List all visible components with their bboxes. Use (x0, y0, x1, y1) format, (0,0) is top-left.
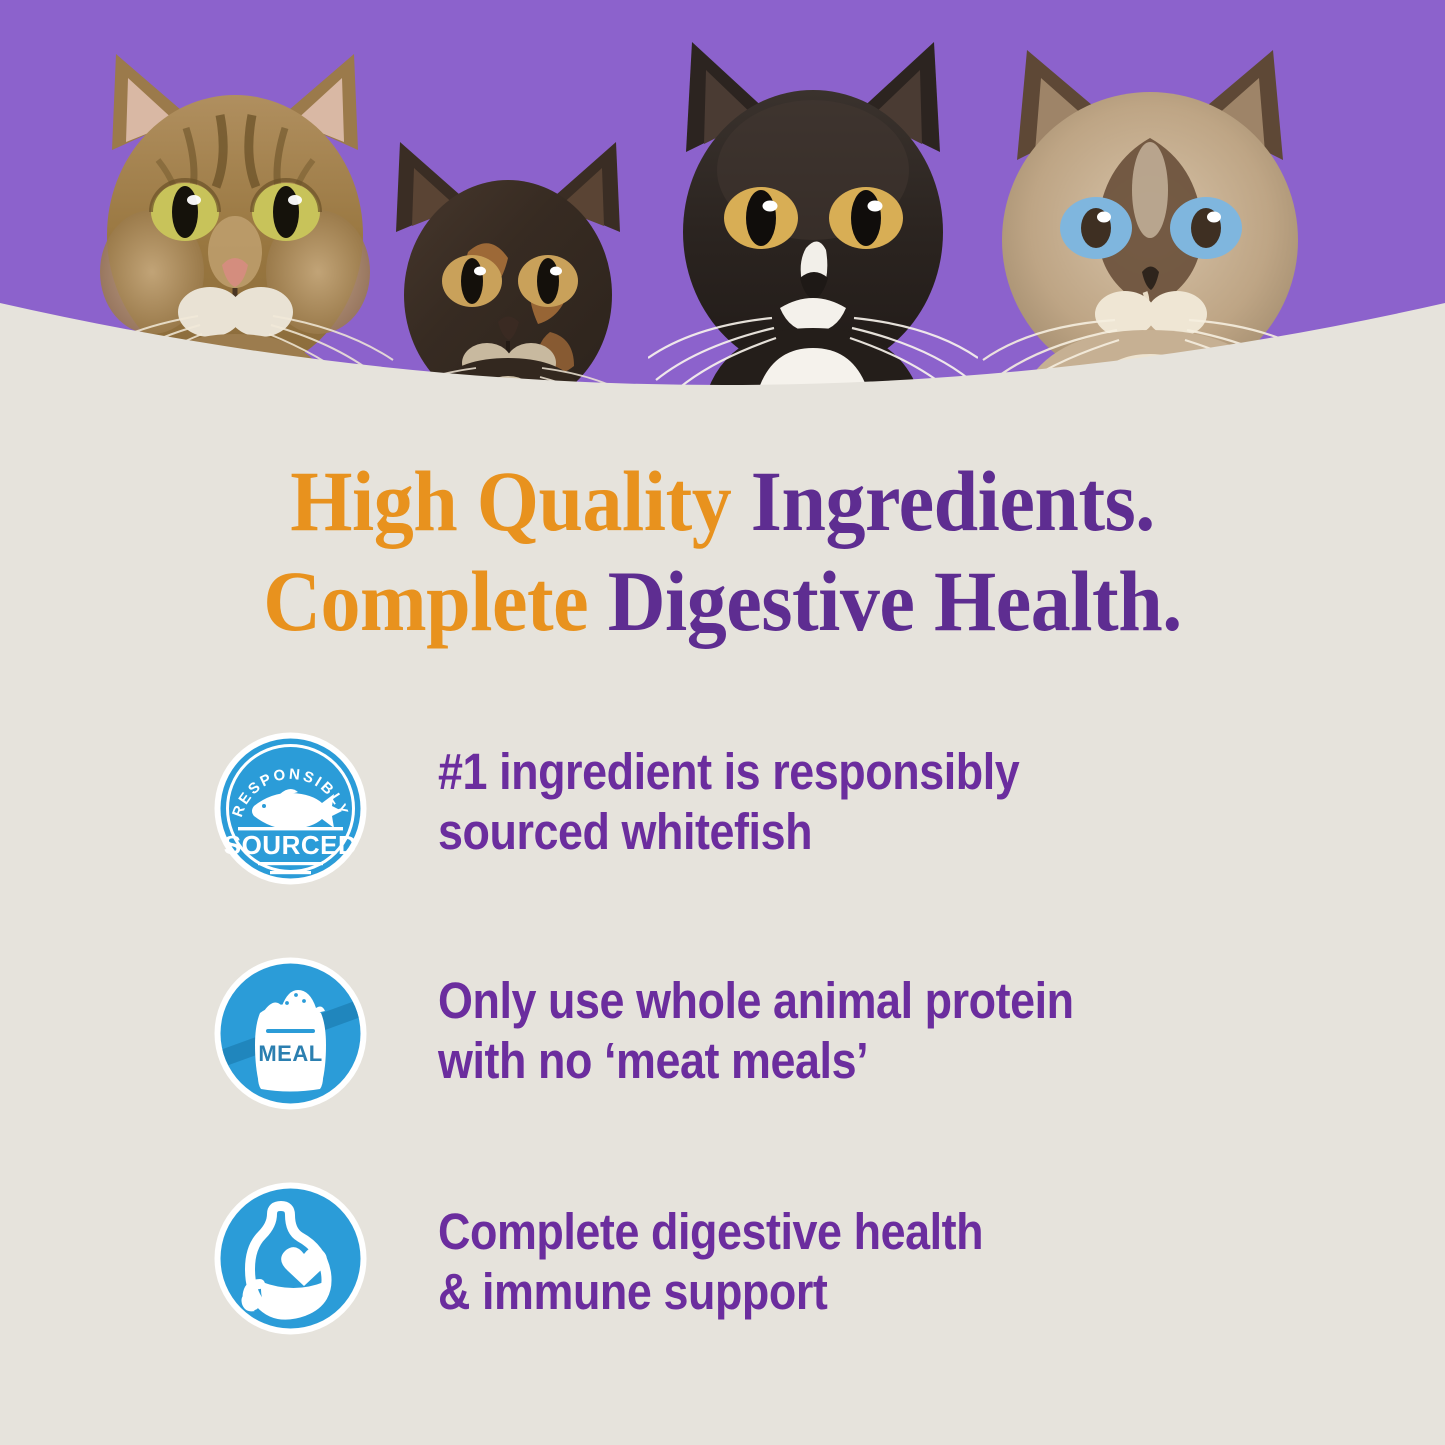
headline-line-1-rest: Ingredients. (751, 453, 1155, 549)
hero-banner (0, 0, 1445, 420)
page-title: High Quality Ingredients. Complete Diges… (51, 452, 1395, 652)
benefit-text: Complete digestive health & immune suppo… (438, 1168, 983, 1321)
benefit-text: Only use whole animal protein with no ‘m… (438, 943, 1074, 1090)
headline-line-1: High Quality Ingredients. (51, 452, 1395, 552)
badge-main-text: SOURCED (224, 830, 358, 860)
headline-line-2-highlight: Complete (263, 553, 608, 649)
list-item: RESPONSIBLY SOURCED #1 ingredient is res… (0, 718, 1445, 943)
cat-photo-black-tuxedo (648, 20, 978, 420)
cat-photo-tortoiseshell-kitten (368, 120, 648, 420)
benefit-text: #1 ingredient is responsibly sourced whi… (438, 718, 1019, 861)
responsibly-sourced-fish-badge-icon: RESPONSIBLY SOURCED (208, 726, 373, 891)
list-item: MEAL Only use whole animal protein with … (0, 943, 1445, 1168)
cat-photo-brown-tabby (70, 20, 400, 420)
headline-line-1-highlight: High Quality (290, 453, 751, 549)
cat-photo-seal-point-ragdoll (975, 20, 1325, 420)
headline-line-2-rest: Digestive Health. (608, 553, 1182, 649)
no-meat-meal-sack-icon: MEAL (208, 951, 373, 1116)
list-item: Complete digestive health & immune suppo… (0, 1168, 1445, 1393)
stomach-heart-digestive-health-icon (208, 1176, 373, 1341)
sack-label: MEAL (258, 1041, 322, 1066)
headline-line-2: Complete Digestive Health. (51, 552, 1395, 652)
benefits-list: RESPONSIBLY SOURCED #1 ingredient is res… (0, 718, 1445, 1393)
